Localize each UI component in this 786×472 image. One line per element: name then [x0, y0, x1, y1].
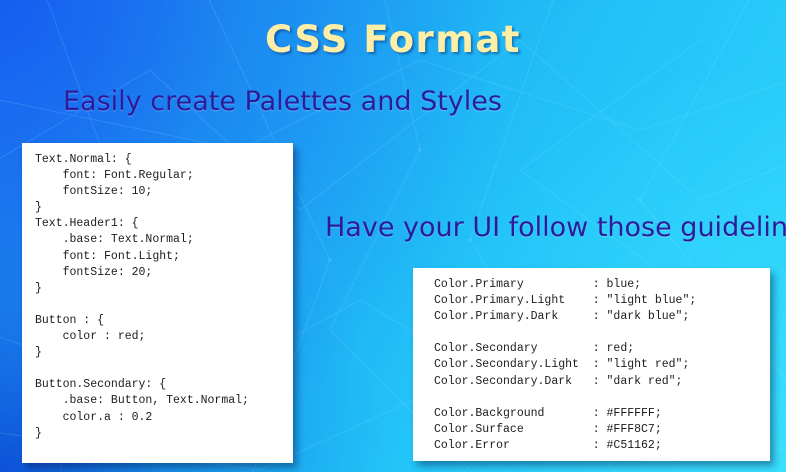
styles-code-text: Text.Normal: { font: Font.Regular; fontS… [22, 143, 293, 442]
code-line: .base: Button, Text.Normal; [35, 393, 293, 409]
code-line: } [35, 200, 293, 216]
code-line: font: Font.Light; [35, 249, 293, 265]
code-line: font: Font.Regular; [35, 168, 293, 184]
code-line: Color.Secondary : red; [434, 341, 770, 357]
code-line: Text.Normal: { [35, 152, 293, 168]
palette-code-text: Color.Primary : blue;Color.Primary.Light… [413, 268, 770, 454]
code-line [35, 361, 293, 377]
code-line: Color.Secondary.Light : "light red"; [434, 357, 770, 373]
subheading-guidelines: Have your UI follow those guidelines [325, 212, 786, 243]
code-line: fontSize: 20; [35, 265, 293, 281]
code-line: } [35, 345, 293, 361]
code-line: Color.Secondary.Dark : "dark red"; [434, 374, 770, 390]
code-line: color.a : 0.2 [35, 410, 293, 426]
code-line [434, 325, 770, 341]
code-line: Color.Primary.Light : "light blue"; [434, 293, 770, 309]
styles-code-block: Text.Normal: { font: Font.Regular; fontS… [22, 143, 293, 463]
code-line: Button : { [35, 313, 293, 329]
page-title: CSS Format [0, 18, 786, 61]
code-line: Color.Primary.Dark : "dark blue"; [434, 309, 770, 325]
code-line: } [35, 281, 293, 297]
code-line: Color.Surface : #FFF8C7; [434, 422, 770, 438]
code-line [35, 297, 293, 313]
code-line: } [35, 426, 293, 442]
code-line: Color.Primary : blue; [434, 277, 770, 293]
subheading-palettes: Easily create Palettes and Styles [63, 86, 502, 117]
code-line: color : red; [35, 329, 293, 345]
code-line: Color.Background : #FFFFFF; [434, 406, 770, 422]
code-line: Color.Error : #C51162; [434, 438, 770, 454]
code-line: Text.Header1: { [35, 216, 293, 232]
code-line: fontSize: 10; [35, 184, 293, 200]
slide-canvas: CSS Format Easily create Palettes and St… [0, 0, 786, 472]
code-line: .base: Text.Normal; [35, 232, 293, 248]
code-line: Button.Secondary: { [35, 377, 293, 393]
palette-code-block: Color.Primary : blue;Color.Primary.Light… [413, 268, 770, 461]
code-line [434, 390, 770, 406]
